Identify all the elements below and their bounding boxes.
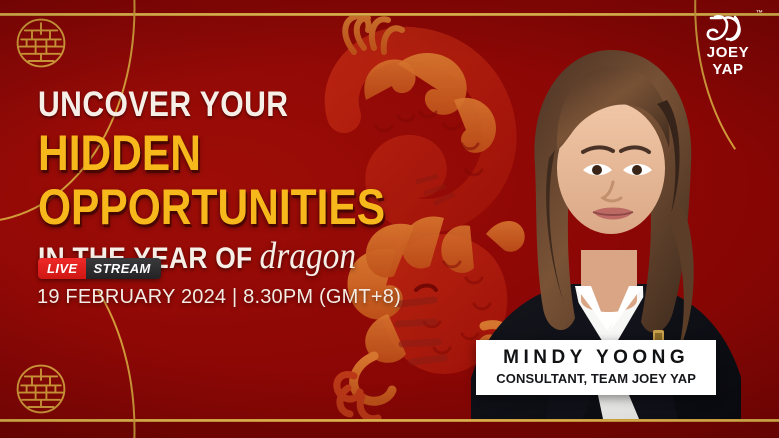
live-label: LIVE <box>38 258 86 279</box>
headline-script-word: dragon <box>252 235 356 277</box>
speaker-nameplate: MINDY YOONG CONSULTANT, TEAM JOEY YAP <box>476 340 716 395</box>
live-stream-badge: LIVE STREAM <box>38 258 161 279</box>
brand-logo: ™ JOEY YAP <box>691 8 765 78</box>
headline-block: UNCOVER YOUR HIDDEN OPPORTUNITIES IN THE… <box>38 86 558 277</box>
speaker-name: MINDY YOONG <box>496 347 696 369</box>
headline-line-1: UNCOVER YOUR <box>38 86 485 124</box>
speaker-role: CONSULTANT, TEAM JOEY YAP <box>496 370 696 387</box>
stream-label: STREAM <box>86 258 161 279</box>
promo-banner: UNCOVER YOUR HIDDEN OPPORTUNITIES IN THE… <box>0 0 779 438</box>
jy-monogram-icon: ™ <box>691 8 765 46</box>
brand-wordmark: JOEY YAP <box>691 44 765 78</box>
event-datetime: 19 FEBRUARY 2024 | 8.30PM (GMT+8) <box>37 286 401 309</box>
trademark-symbol: ™ <box>756 10 763 17</box>
headline-line-2: HIDDEN OPPORTUNITIES <box>38 126 480 234</box>
